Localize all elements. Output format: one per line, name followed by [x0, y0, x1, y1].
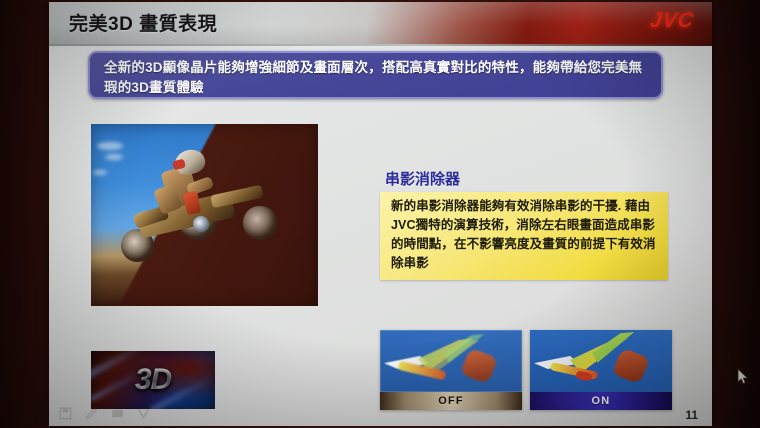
page-number: 11	[685, 408, 698, 422]
pen-icon	[85, 407, 98, 420]
comparison-label-on: ON	[530, 392, 672, 410]
logo-3d-text: 3D	[91, 351, 215, 409]
mouse-pointer-icon	[737, 368, 749, 385]
arrow-icon	[137, 407, 150, 420]
feature-heading: 串影消除器	[385, 168, 460, 189]
feature-description-box: 新的串影消除器能夠有效消除串影的干擾. 藉由JVC獨特的演算技術，消除左右眼畫面…	[380, 192, 668, 280]
save-icon	[59, 407, 72, 420]
slide-icon	[111, 407, 124, 420]
hero-photo-atv	[91, 124, 318, 306]
comparison-label-off: OFF	[380, 392, 522, 410]
presentation-slide: 完美3D 畫質表現 JVC 全新的3D顯像晶片能夠增強細節及畫面層次，搭配高真實…	[49, 2, 712, 426]
comparison-off: OFF	[380, 330, 522, 410]
windsurf-photo-on	[530, 330, 672, 392]
intro-callout-box: 全新的3D顯像晶片能夠增強細節及畫面層次，搭配高真實對比的特性，能夠帶給您完美無…	[88, 51, 663, 99]
photographed-screen-frame: 完美3D 畫質表現 JVC 全新的3D顯像晶片能夠增強細節及畫面層次，搭配高真實…	[0, 0, 760, 428]
comparison-on: ON	[530, 330, 672, 410]
watermark-toolbar	[59, 407, 150, 420]
page-title: 完美3D 畫質表現	[69, 9, 217, 36]
jvc-brand-logo: JVC	[649, 9, 695, 33]
windsurf-photo-off	[380, 330, 522, 392]
logo-tile-3d: 3D	[91, 351, 215, 409]
header-divider	[49, 44, 712, 46]
